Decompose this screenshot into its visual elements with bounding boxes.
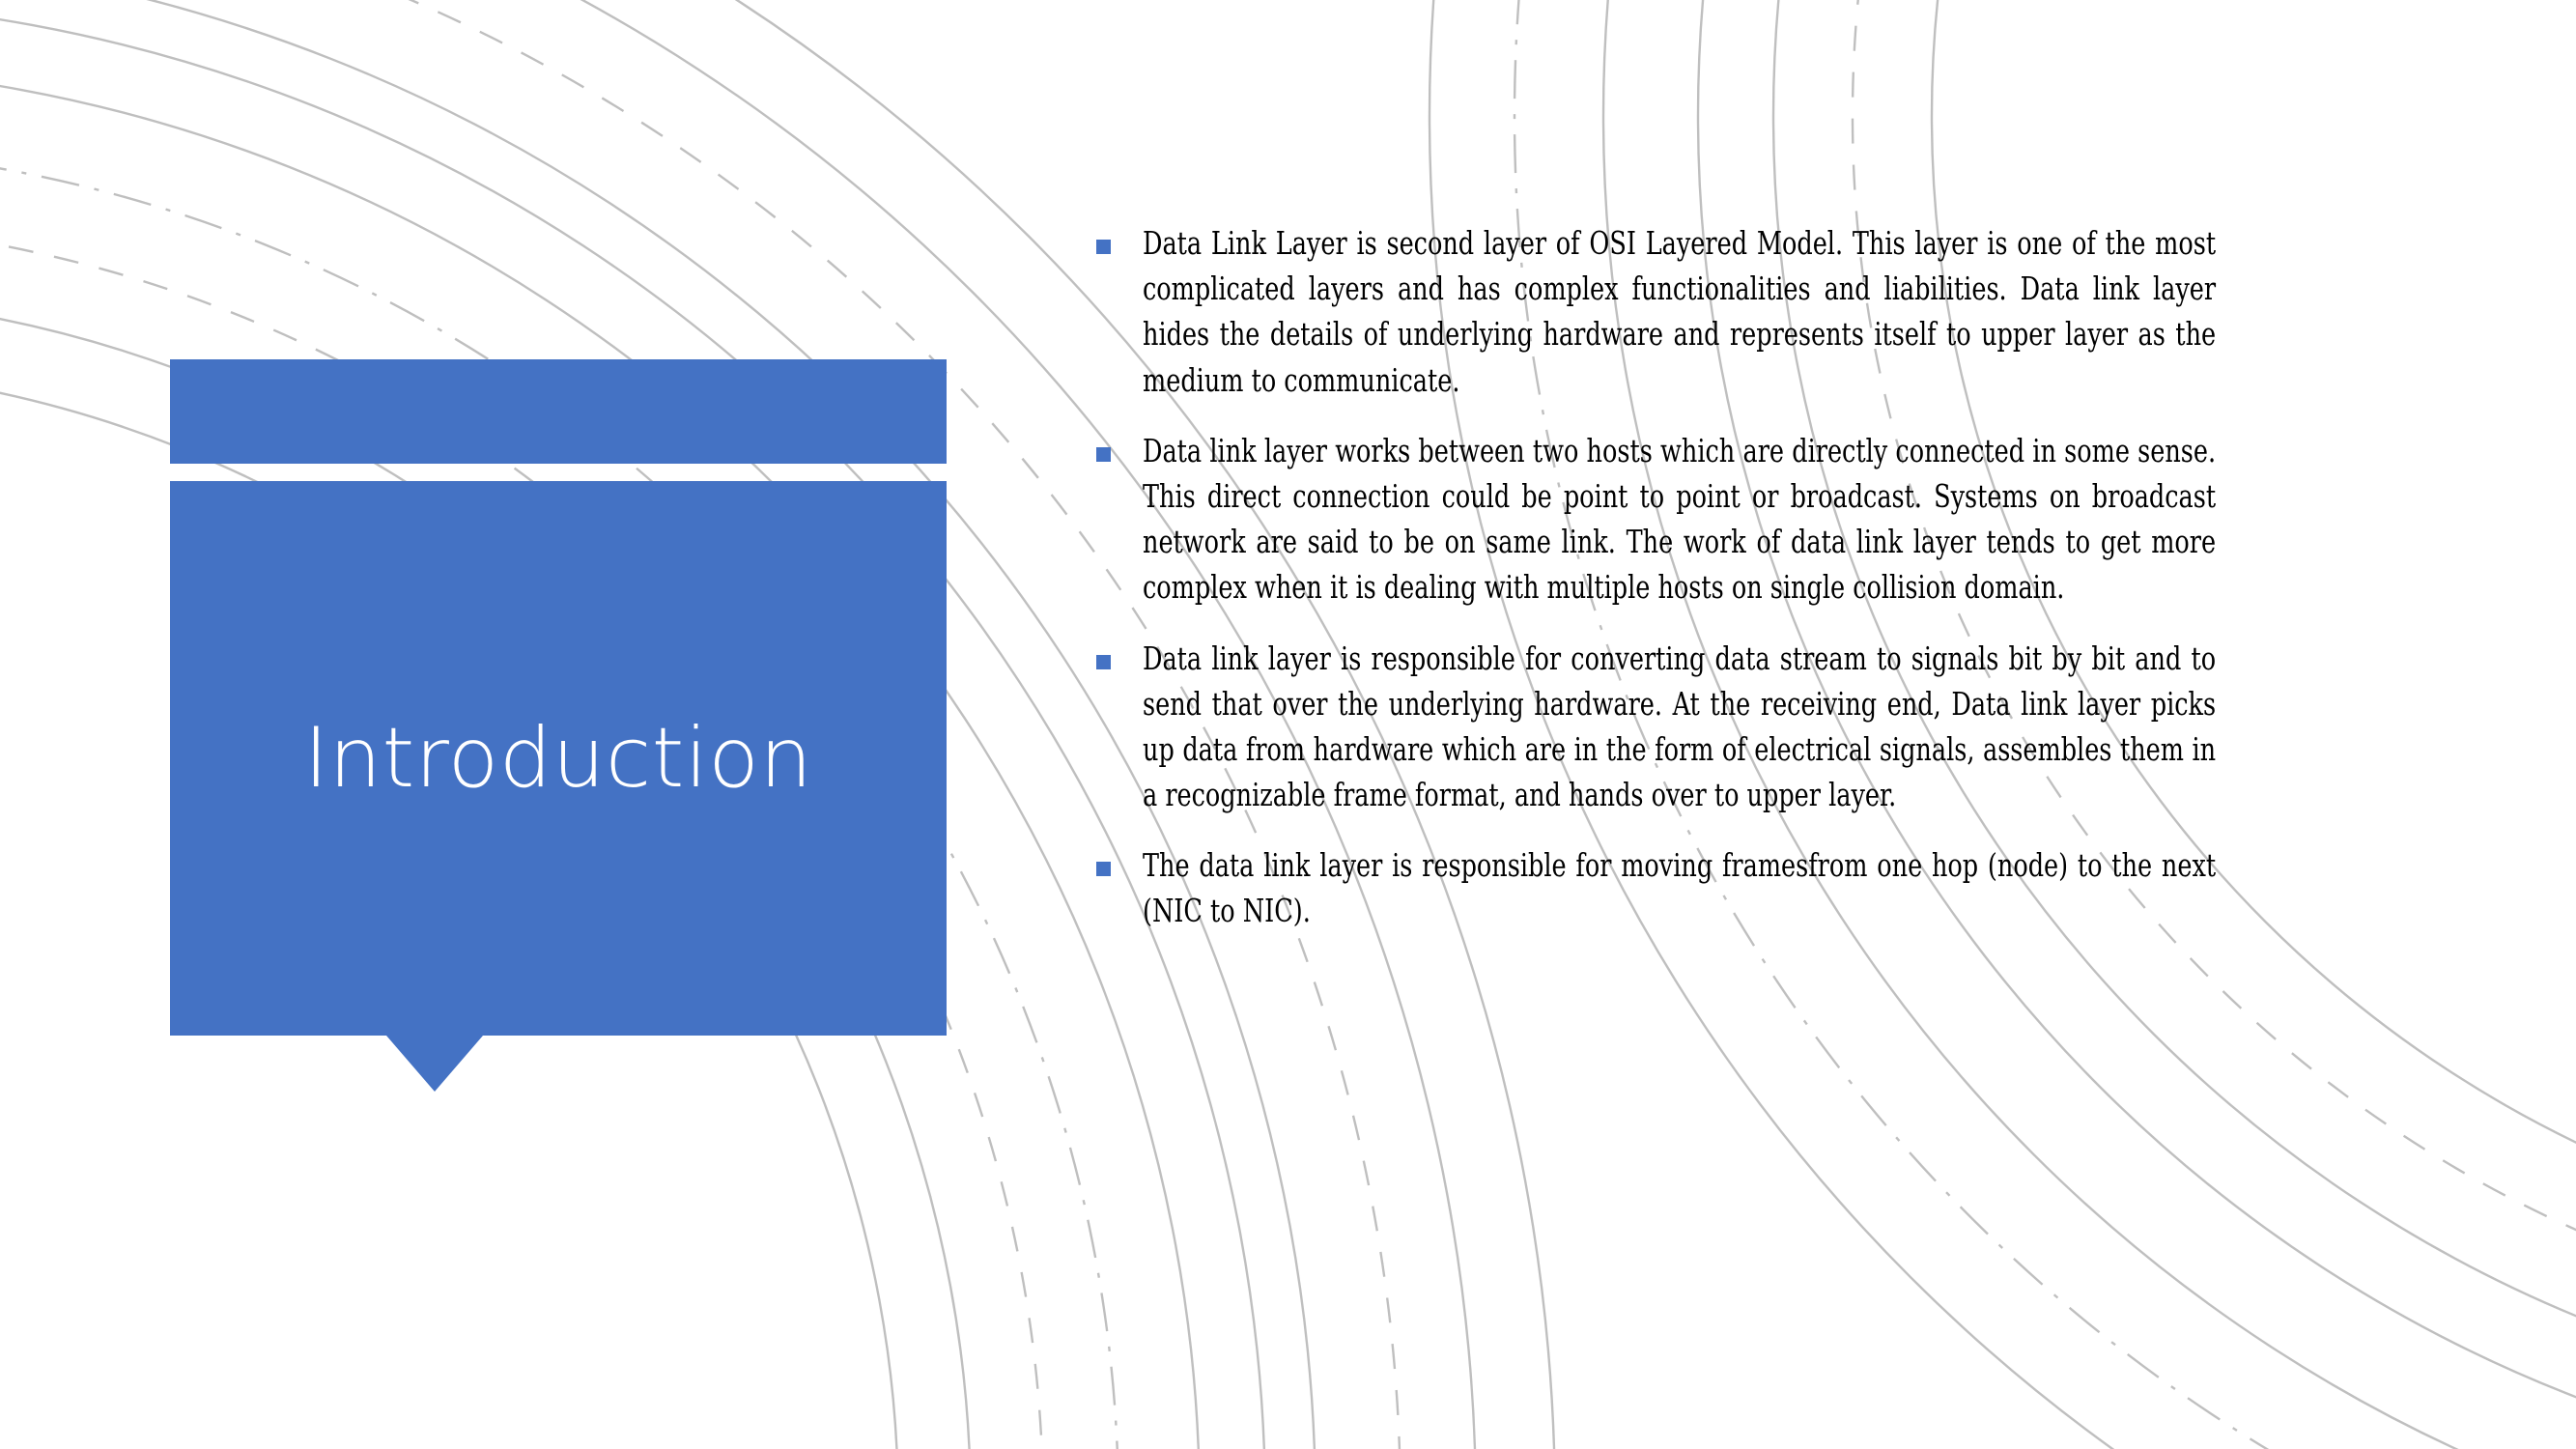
list-item-text: Data link layer works between two hosts … xyxy=(1143,428,2216,611)
callout-gap xyxy=(170,464,947,481)
list-item: The data link layer is responsible for m… xyxy=(1096,842,2391,933)
list-item-text: Data Link Layer is second layer of OSI L… xyxy=(1143,220,2216,403)
page-title: Introduction xyxy=(304,717,813,800)
list-item-text: Data link layer is responsible for conve… xyxy=(1143,636,2216,818)
list-item: Data Link Layer is second layer of OSI L… xyxy=(1096,220,2391,403)
slide-canvas: Introduction Data Link Layer is second l… xyxy=(0,0,2576,1449)
square-bullet-icon xyxy=(1096,655,1111,669)
list-item-text: The data link layer is responsible for m… xyxy=(1143,842,2216,933)
square-bullet-icon xyxy=(1096,862,1111,876)
callout-body: Introduction xyxy=(170,481,947,1036)
list-item: Data link layer is responsible for conve… xyxy=(1096,636,2391,818)
title-callout: Introduction xyxy=(170,359,947,1036)
square-bullet-icon xyxy=(1096,447,1111,462)
callout-tail-icon xyxy=(386,1036,483,1092)
content-body: Data Link Layer is second layer of OSI L… xyxy=(1096,220,2391,959)
square-bullet-icon xyxy=(1096,240,1111,254)
callout-top-bar xyxy=(170,359,947,464)
list-item: Data link layer works between two hosts … xyxy=(1096,428,2391,611)
